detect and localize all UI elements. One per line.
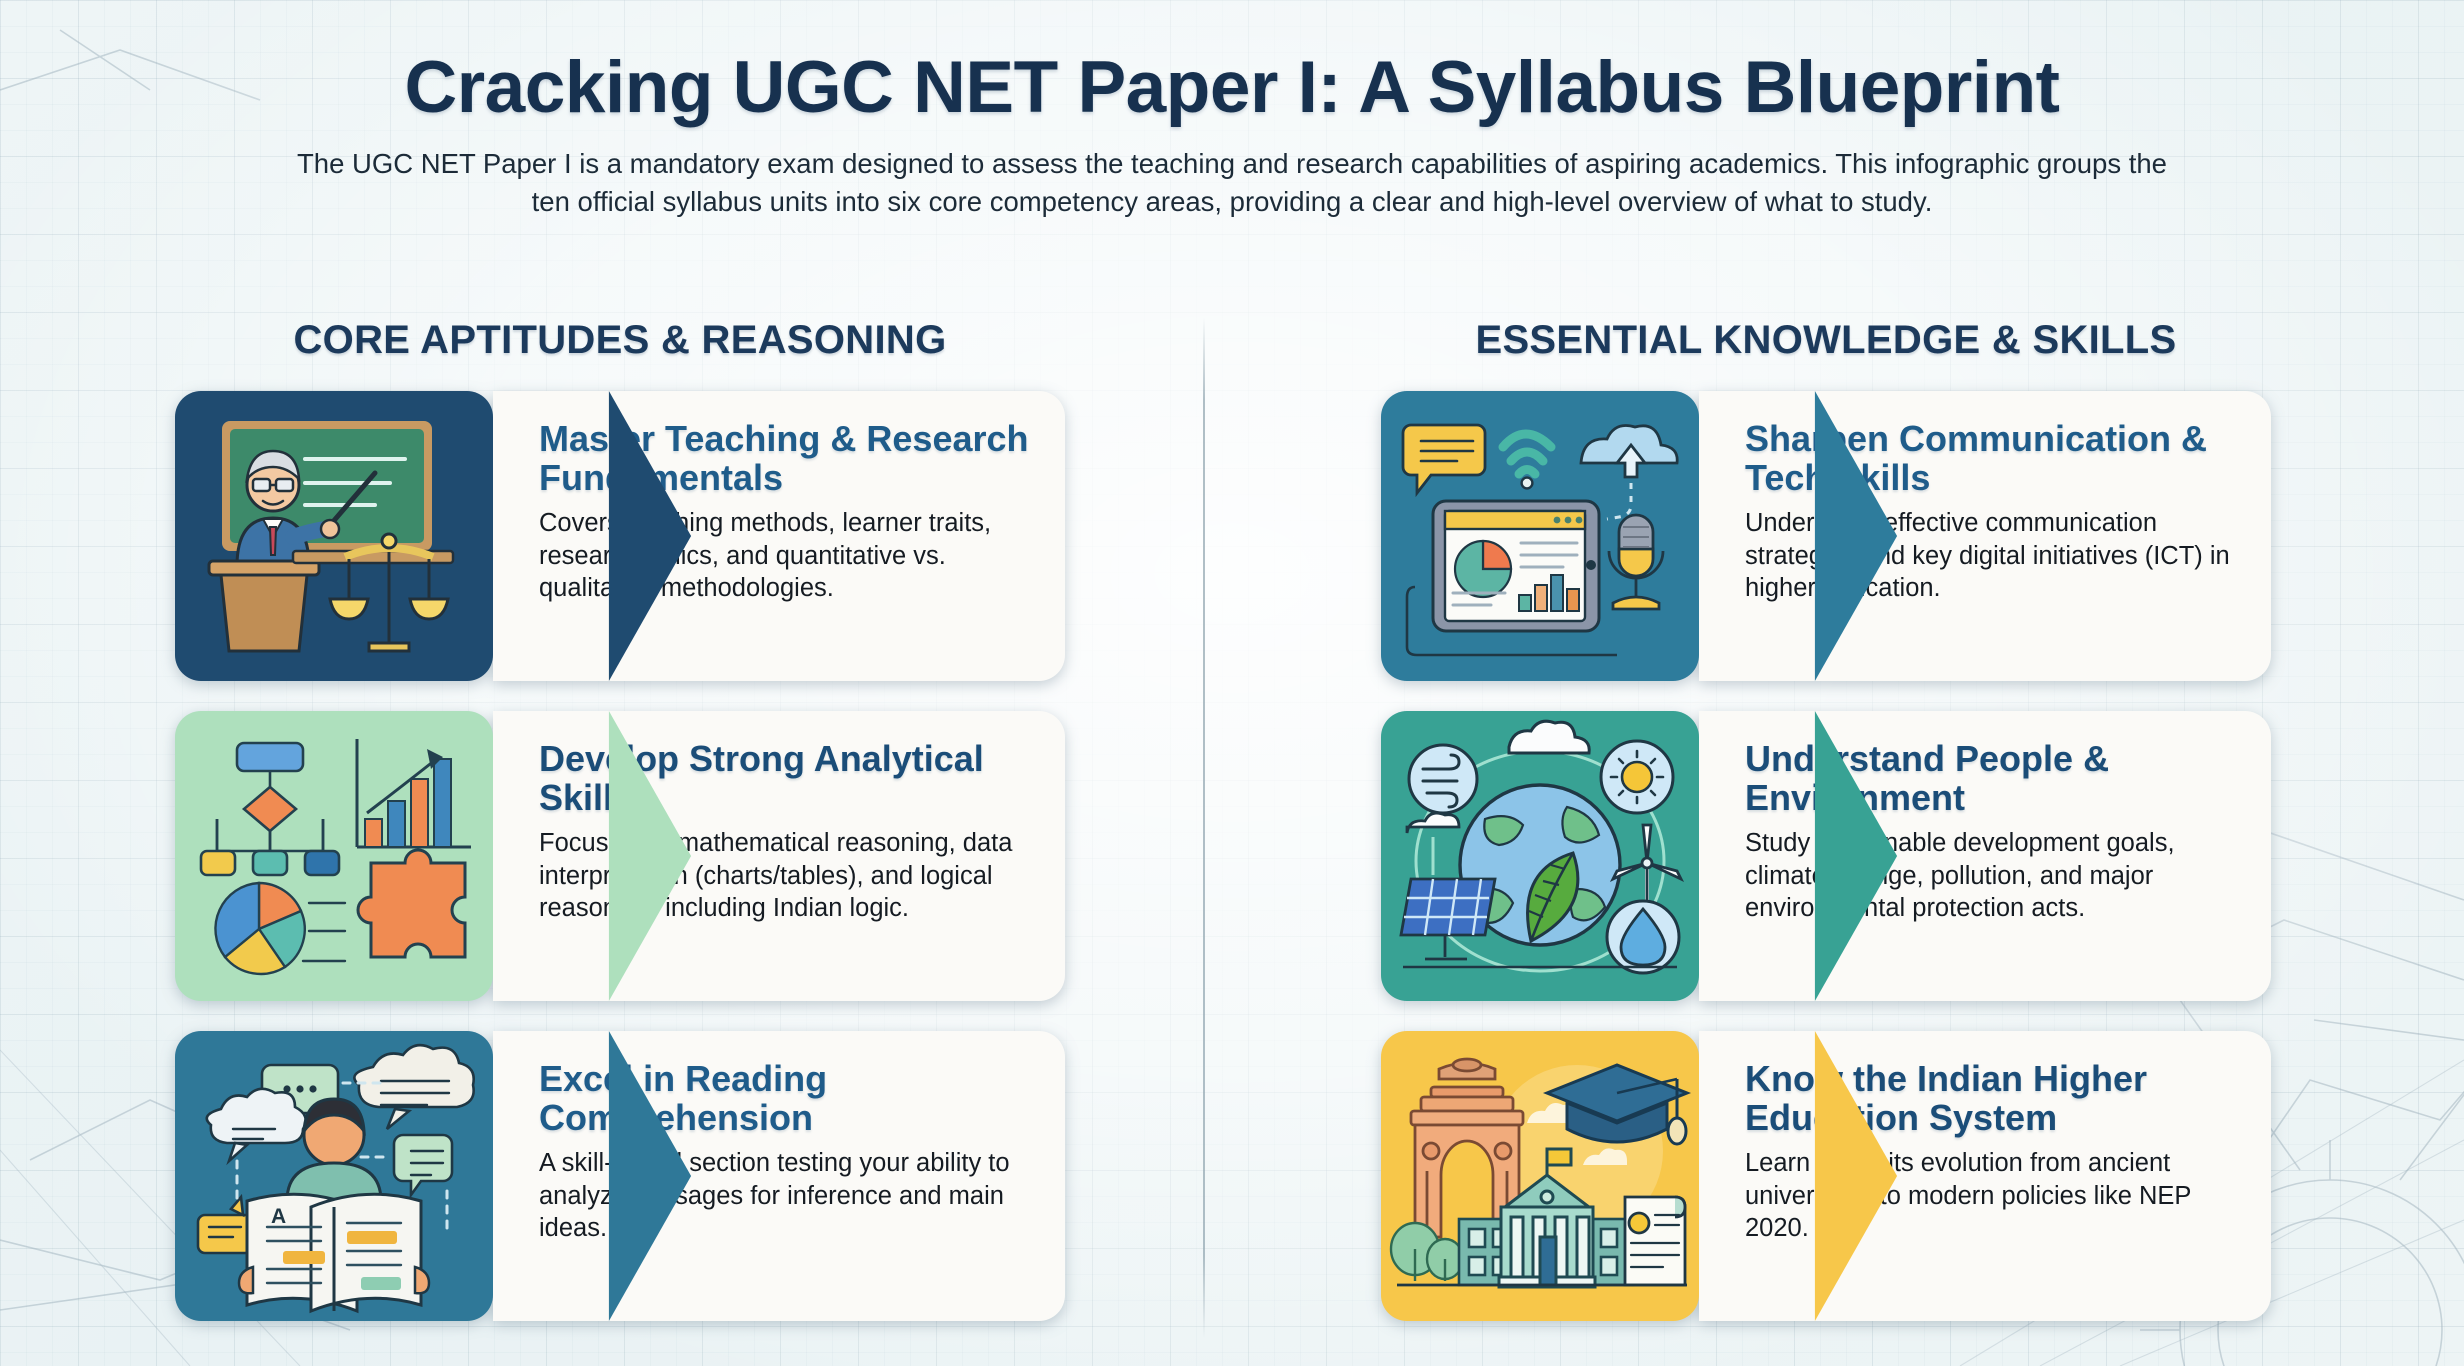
- card-people-environment[interactable]: Understand People & Environment Study su…: [1381, 711, 2271, 1001]
- page-subtitle: The UGC NET Paper I is a mandatory exam …: [142, 145, 2322, 221]
- card-reading-comprehension[interactable]: A Excel in Reading Comprehension A skill…: [175, 1031, 1065, 1321]
- column-essential-knowledge: ESSENTIAL KNOWLEDGE & SKILLS: [1246, 318, 2406, 1351]
- card-communication-tech-skills[interactable]: Sharpen Communication & Tech Skills Unde…: [1381, 391, 2271, 681]
- card-indian-higher-education[interactable]: Know the Indian Higher Education System …: [1381, 1031, 2271, 1321]
- person-reading-book-illustration: A: [175, 1031, 493, 1321]
- column-heading-right: ESSENTIAL KNOWLEDGE & SKILLS: [1246, 318, 2406, 363]
- charts-flowchart-puzzle-illustration: [175, 711, 493, 1001]
- header: Cracking UGC NET Paper I: A Syllabus Blu…: [0, 0, 2464, 221]
- column-core-aptitudes: CORE APTITUDES & REASONING: [40, 318, 1200, 1351]
- card-arrow-notch: [491, 711, 809, 1001]
- column-heading-left: CORE APTITUDES & REASONING: [40, 318, 1200, 363]
- card-arrow-notch: [1697, 391, 2015, 681]
- card-arrow-notch: [1697, 711, 2015, 1001]
- tablet-wifi-cloud-microphone-illustration: [1381, 391, 1699, 681]
- card-arrow-notch: [491, 391, 809, 681]
- card-master-teaching-research[interactable]: Master Teaching & Research Fundamentals …: [175, 391, 1065, 681]
- card-analytical-skills[interactable]: Develop Strong Analytical Skills Focuses…: [175, 711, 1065, 1001]
- page-title: Cracking UGC NET Paper I: A Syllabus Blu…: [0, 46, 2464, 129]
- svg-text:A: A: [271, 1205, 286, 1228]
- globe-leaf-renewables-illustration: [1381, 711, 1699, 1001]
- card-arrow-notch: [491, 1031, 809, 1321]
- column-divider: [1203, 318, 1205, 1338]
- card-arrow-notch: [1697, 1031, 2015, 1321]
- teacher-chalkboard-scales-illustration: [175, 391, 493, 681]
- india-gate-university-graduation-illustration: [1381, 1031, 1699, 1321]
